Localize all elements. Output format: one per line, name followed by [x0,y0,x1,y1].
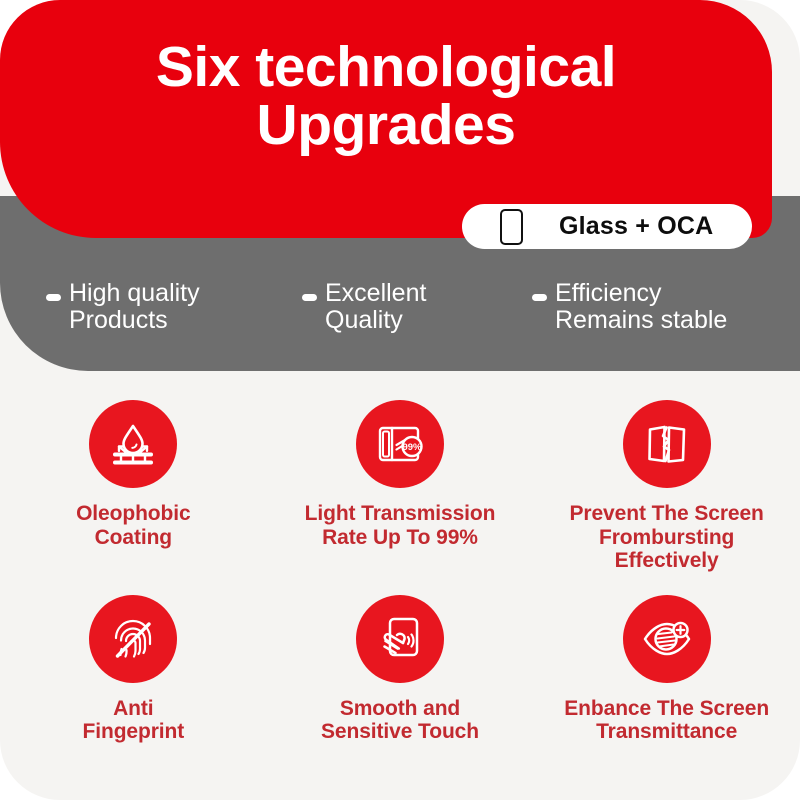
feature-cell: Prevent The Screen Frombursting Effectiv… [533,400,800,573]
band-feature-label: Efficiency Remains stable [555,280,727,334]
feature-icon-grid: Oleophobic Coating 99% Light Transmissio [0,400,800,744]
feature-cell: Smooth and Sensitive Touch [267,595,534,744]
feature-cell: 99% Light Transmission Rate Up To 99% [267,400,534,573]
red-header-block: Six technological Upgrades [0,0,772,238]
band-feature-item: Excellent Quality [260,280,480,334]
feature-cell-label: Enbance The Screen Transmittance [564,697,769,744]
phone-outline-icon [500,209,523,245]
infographic-card: Six technological Upgrades Glass + OCA H… [0,0,800,800]
feature-cell-label: Light Transmission Rate Up To 99% [305,502,496,549]
feature-cell-label: Oleophobic Coating [76,502,191,549]
glass-oca-badge: Glass + OCA [462,204,752,249]
dash-bullet-icon [46,294,61,301]
hand-touch-screen-icon [356,595,444,683]
feature-cell-label: Smooth and Sensitive Touch [321,697,479,744]
dash-bullet-icon [532,294,547,301]
svg-text:99%: 99% [402,442,422,453]
card-surface: Six technological Upgrades Glass + OCA H… [0,0,800,800]
band-feature-label: Excellent Quality [325,280,426,334]
dash-bullet-icon [302,294,317,301]
cracked-screen-icon [623,400,711,488]
feature-cell: Oleophobic Coating [0,400,267,573]
feature-cell-label: Prevent The Screen Frombursting Effectiv… [570,502,764,573]
band-feature-item: Efficiency Remains stable [480,280,800,334]
feature-cell: Enbance The Screen Transmittance [533,595,800,744]
fingerprint-slash-icon [89,595,177,683]
glass-oca-badge-label: Glass + OCA [559,212,713,241]
band-feature-label: High quality Products [69,280,200,334]
page-title: Six technological Upgrades [0,38,772,154]
band-feature-list: High quality Products Excellent Quality … [0,280,800,334]
band-feature-item: High quality Products [0,280,260,334]
feature-cell-label: Anti Fingeprint [83,697,185,744]
eye-plus-icon [623,595,711,683]
screen-light-transmission-99-icon: 99% [356,400,444,488]
water-droplet-repel-icon [89,400,177,488]
feature-cell: Anti Fingeprint [0,595,267,744]
